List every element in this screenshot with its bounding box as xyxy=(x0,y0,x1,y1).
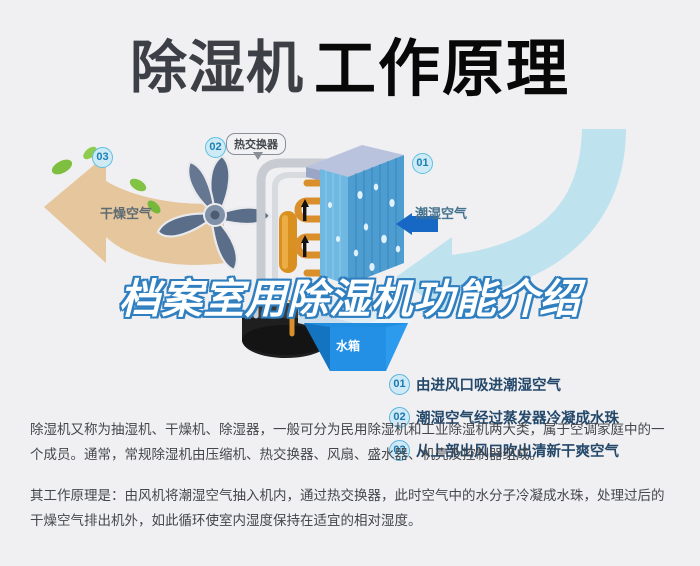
list-item: 01 由进风口吸进潮湿空气 xyxy=(389,368,689,401)
description-block: 除湿机又称为抽湿机、干燥机、除湿器，一般可分为民用除湿机和工业除湿机两大类，属于… xyxy=(30,417,675,533)
label-water-tank: 水箱 xyxy=(336,337,360,354)
diagram-badge-01: 01 xyxy=(412,153,433,174)
step-number-01: 01 xyxy=(389,374,410,395)
page-title-part-1: 除湿机 xyxy=(130,36,304,100)
description-paragraph-2: 其工作原理是：由风机将潮湿空气抽入机内，通过热交换器，此时空气中的水分子冷凝成水… xyxy=(30,483,675,533)
page-root: 除湿机工作原理 xyxy=(0,0,700,566)
label-dry-air: 干燥空气 xyxy=(100,203,152,222)
diagram-badge-03: 03 xyxy=(92,147,113,168)
diagram-badge-02: 02 xyxy=(205,137,226,158)
overlay-headline: 档案室用除湿机功能介绍 xyxy=(0,265,700,325)
label-humid-air: 潮湿空气 xyxy=(415,203,467,222)
overlay-headline-text: 档案室用除湿机功能介绍 xyxy=(119,276,581,322)
description-paragraph-1: 除湿机又称为抽湿机、干燥机、除湿器，一般可分为民用除湿机和工业除湿机两大类，属于… xyxy=(30,417,675,467)
page-title-part-2: 工作原理 xyxy=(314,35,570,104)
page-title: 除湿机工作原理 xyxy=(0,18,700,108)
dehumidifier-diagram: 03 02 01 干燥空气 潮湿空气 热交换器 水箱 01 由进风口吸进潮湿空气… xyxy=(0,125,700,395)
step-text-01: 由进风口吸进潮湿空气 xyxy=(416,374,561,395)
callout-pointer-icon xyxy=(253,152,263,160)
